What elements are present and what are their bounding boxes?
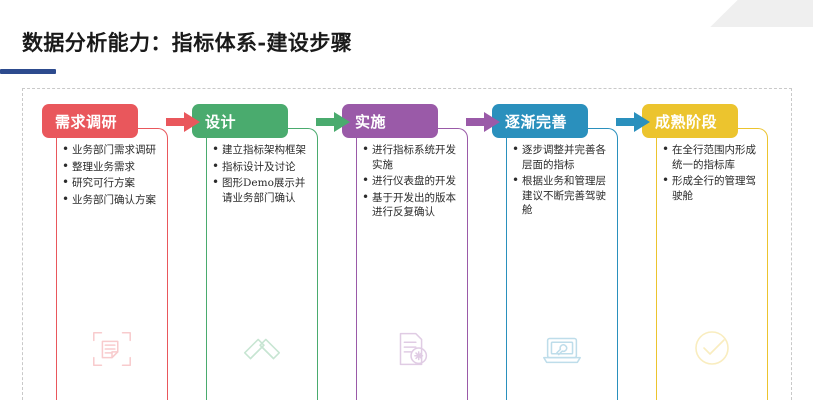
- step-body-5: 在全行范围内形成统一的指标库形成全行的管理驾驶舱: [656, 128, 768, 400]
- document-gear-icon: [357, 326, 467, 372]
- corner-banner-decoration: [683, 0, 813, 27]
- step-bullet-item: 建立指标架构框架: [211, 143, 311, 158]
- step-arrow-1: [166, 112, 200, 132]
- step-bullet-item: 进行指标系统开发实施: [361, 143, 461, 172]
- process-step-column: 成熟阶段在全行范围内形成统一的指标库形成全行的管理驾驶舱: [634, 104, 784, 400]
- pencil-ruler-icon: [207, 326, 317, 372]
- process-step-column: 设计建立指标架构框架指标设计及讨论图形Demo展示并请业务部门确认: [184, 104, 334, 400]
- process-step-column: 需求调研业务部门需求调研整理业务需求研究可行方案业务部门确认方案: [34, 104, 184, 400]
- step-header-4[interactable]: 逐渐完善: [492, 104, 588, 138]
- step-arrow-3: [466, 112, 500, 132]
- step-bullet-list: 建立指标架构框架指标设计及讨论图形Demo展示并请业务部门确认: [211, 143, 311, 205]
- title-underline-accent: [0, 69, 56, 74]
- step-header-5[interactable]: 成熟阶段: [642, 104, 738, 138]
- step-bullet-item: 业务部门需求调研: [61, 143, 161, 158]
- process-step-column: 实施进行指标系统开发实施进行仪表盘的开发基于开发出的版本进行反复确认: [334, 104, 484, 400]
- step-header-3[interactable]: 实施: [342, 104, 438, 138]
- step-bullet-item: 在全行范围内形成统一的指标库: [661, 143, 761, 172]
- laptop-wrench-icon: [507, 326, 617, 372]
- process-steps-container: 需求调研业务部门需求调研整理业务需求研究可行方案业务部门确认方案设计建立指标架构…: [34, 104, 786, 400]
- step-body-3: 进行指标系统开发实施进行仪表盘的开发基于开发出的版本进行反复确认: [356, 128, 468, 400]
- step-bullet-item: 图形Demo展示并请业务部门确认: [211, 176, 311, 205]
- process-step-column: 逐渐完善逐步调整并完善各层面的指标根据业务和管理层建议不断完善驾驶舱: [484, 104, 634, 400]
- step-bullet-item: 指标设计及讨论: [211, 160, 311, 175]
- step-bullet-item: 形成全行的管理驾驶舱: [661, 174, 761, 203]
- step-body-1: 业务部门需求调研整理业务需求研究可行方案业务部门确认方案: [56, 128, 168, 400]
- step-body-2: 建立指标架构框架指标设计及讨论图形Demo展示并请业务部门确认: [206, 128, 318, 400]
- step-bullet-list: 业务部门需求调研整理业务需求研究可行方案业务部门确认方案: [61, 143, 161, 207]
- step-bullet-item: 业务部门确认方案: [61, 193, 161, 208]
- step-bullet-item: 基于开发出的版本进行反复确认: [361, 191, 461, 220]
- check-circle-icon: [657, 324, 767, 372]
- step-arrow-4: [616, 112, 650, 132]
- page-title: 数据分析能力：指标体系-建设步骤: [22, 27, 352, 57]
- step-bullet-list: 逐步调整并完善各层面的指标根据业务和管理层建议不断完善驾驶舱: [511, 143, 611, 218]
- step-arrow-2: [316, 112, 350, 132]
- step-bullet-item: 研究可行方案: [61, 176, 161, 191]
- step-body-4: 逐步调整并完善各层面的指标根据业务和管理层建议不断完善驾驶舱: [506, 128, 618, 400]
- step-bullet-item: 整理业务需求: [61, 160, 161, 175]
- step-bullet-item: 进行仪表盘的开发: [361, 174, 461, 189]
- step-header-1[interactable]: 需求调研: [42, 104, 138, 138]
- document-scan-icon: [57, 326, 167, 372]
- step-bullet-list: 进行指标系统开发实施进行仪表盘的开发基于开发出的版本进行反复确认: [361, 143, 461, 220]
- slide-root: 数据分析能力：指标体系-建设步骤 需求调研业务部门需求调研整理业务需求研究可行方…: [0, 0, 813, 400]
- step-header-2[interactable]: 设计: [192, 104, 288, 138]
- step-bullet-item: 逐步调整并完善各层面的指标: [511, 143, 611, 172]
- step-bullet-item: 根据业务和管理层建议不断完善驾驶舱: [511, 174, 611, 218]
- step-bullet-list: 在全行范围内形成统一的指标库形成全行的管理驾驶舱: [661, 143, 761, 203]
